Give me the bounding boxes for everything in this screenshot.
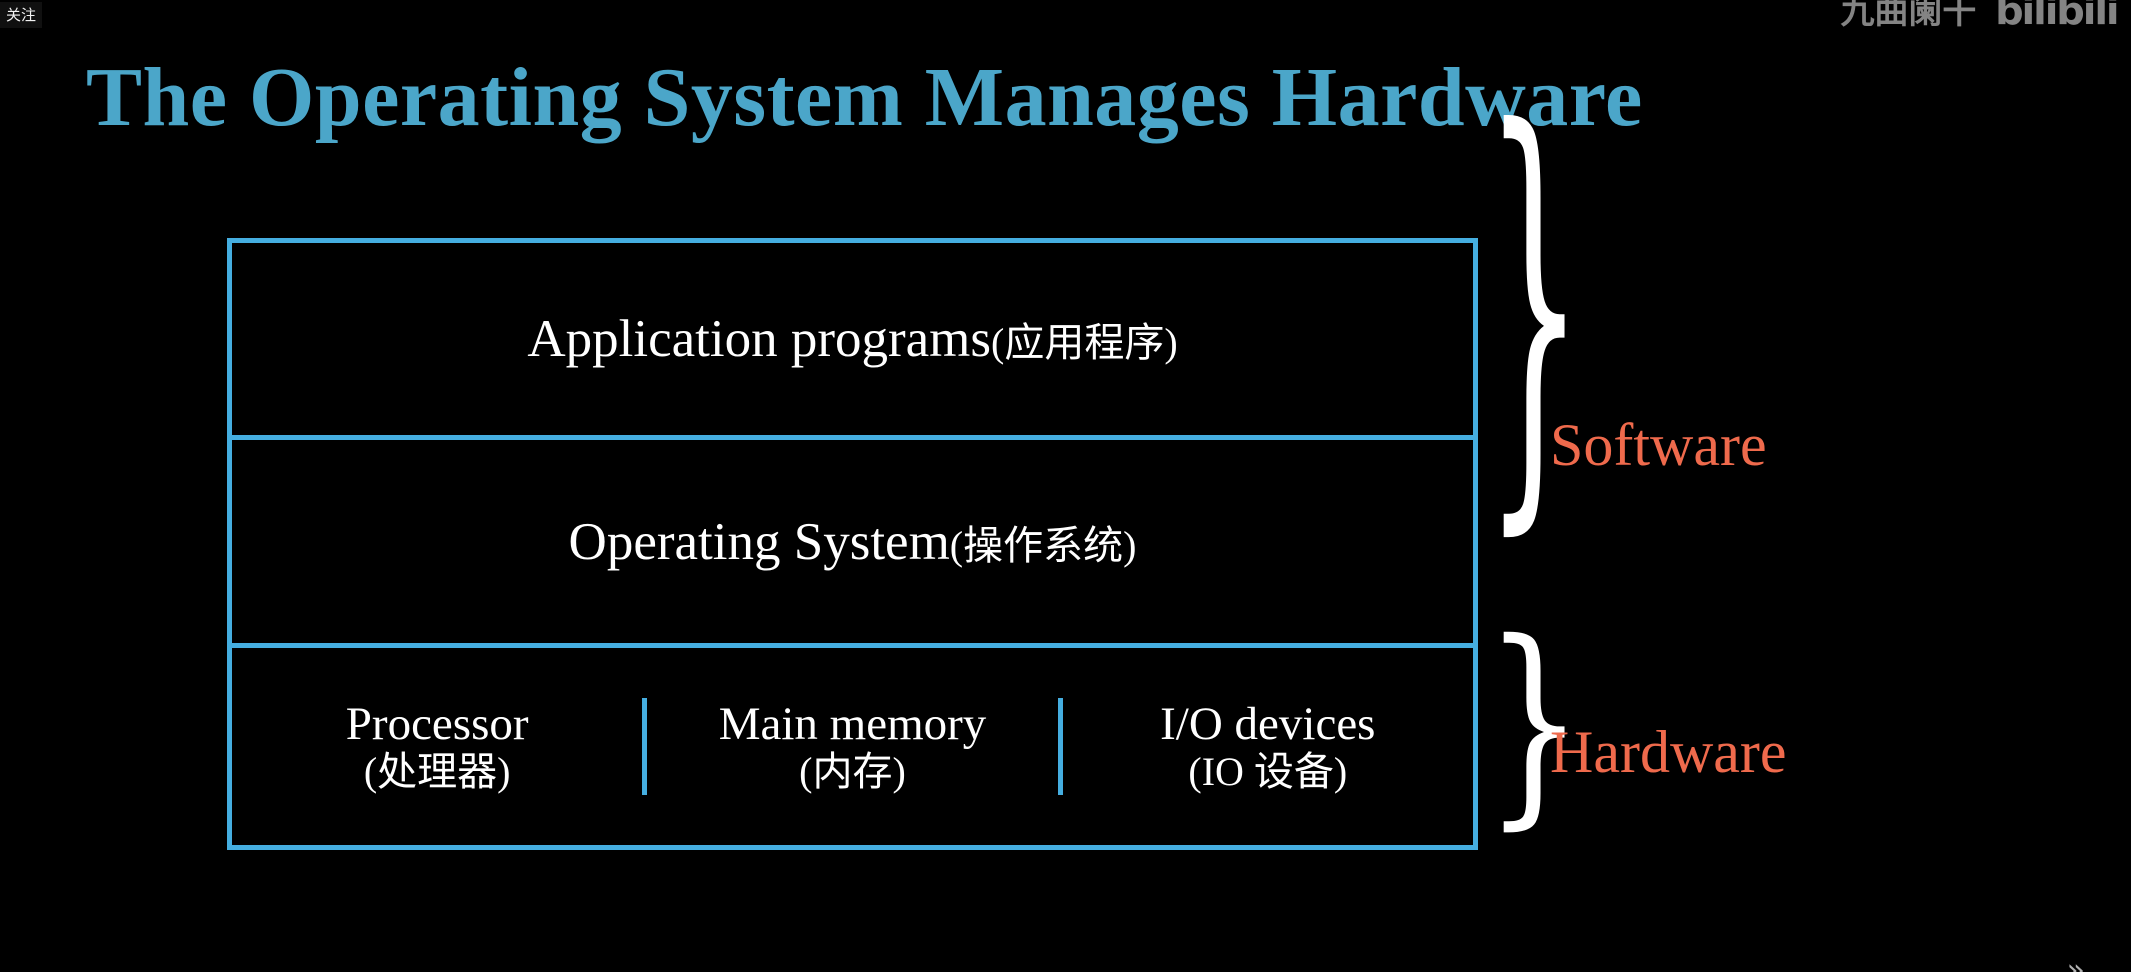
group-label-hardware: Hardware [1550,722,1787,782]
channel-watermark: 九曲阑干 bilibili [1840,0,2115,30]
player-fast-forward-icon[interactable]: » [2067,956,2089,972]
hardware-cell-main-memory: Main memory (内存) [642,698,1057,795]
layer-box-operating-system: Operating System (操作系统) [227,438,1478,646]
follow-button[interactable]: 关注 [0,2,42,28]
hardware-cell-processor: Processor (处理器) [232,698,642,795]
watermark-channel-name: 九曲阑干 [1840,0,1976,30]
hardware-english-io-devices: I/O devices [1160,698,1375,751]
slide-canvas: 关注 九曲阑干 bilibili The Operating System Ma… [0,0,2131,972]
hardware-cell-io-devices: I/O devices (IO 设备) [1058,698,1473,795]
layer-box-application-programs: Application programs (应用程序) [227,238,1478,438]
hardware-english-processor: Processor [346,698,529,751]
layer-english-application-programs: Application programs [527,309,991,369]
layer-english-operating-system: Operating System [569,512,950,572]
layer-chinese-application-programs: (应用程序) [991,310,1178,368]
page-title: The Operating System Manages Hardware [86,50,1643,147]
group-label-software: Software [1550,415,1767,475]
hardware-chinese-io-devices: (IO 设备) [1188,750,1347,795]
layer-chinese-operating-system: (操作系统) [950,513,1137,571]
system-layer-diagram: Application programs (应用程序) Operating Sy… [227,238,1478,850]
layer-label-operating-system: Operating System (操作系统) [569,512,1137,572]
hardware-chinese-processor: (处理器) [364,750,511,795]
layer-label-application-programs: Application programs (应用程序) [527,309,1177,369]
hardware-english-main-memory: Main memory [719,698,987,751]
layer-box-hardware-row: Processor (处理器) Main memory (内存) I/O dev… [227,646,1478,850]
bilibili-logo-icon: bilibili [1996,0,2118,30]
hardware-chinese-main-memory: (内存) [799,750,906,795]
